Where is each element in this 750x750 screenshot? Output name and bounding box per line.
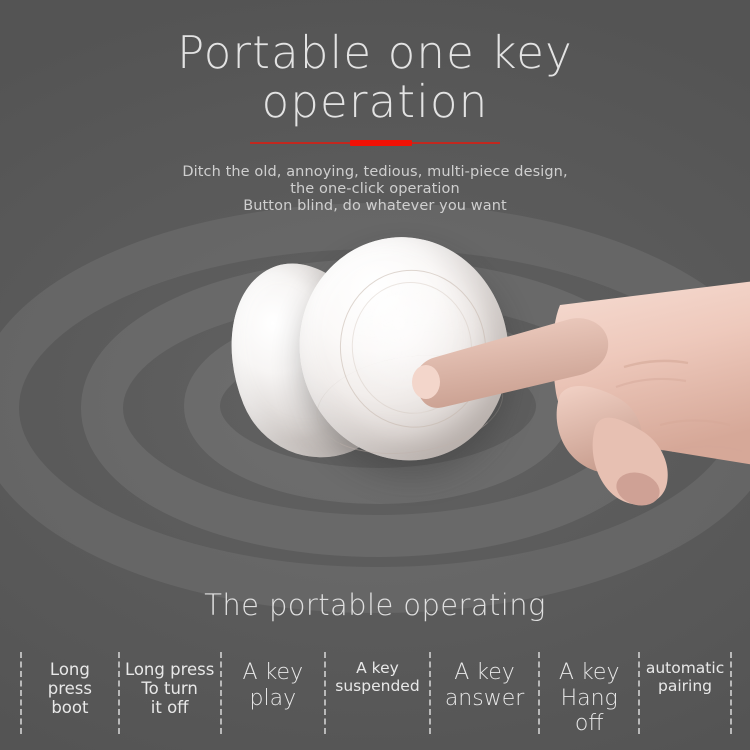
feature-cell: Long press boot	[20, 652, 118, 734]
subtitle-line-1: Ditch the old, annoying, tedious, multi-…	[0, 164, 750, 181]
feature-cell: automatic pairing	[638, 652, 732, 734]
bottom-section-heading: The portable operating	[0, 588, 750, 622]
feature-label: A key play	[238, 660, 309, 711]
feature-cell: A key Hang off	[538, 652, 638, 734]
feature-strip: Long press bootLong press To turn it off…	[20, 652, 732, 734]
subtitle-line-2: the one-click operation	[0, 181, 750, 198]
product-stage	[0, 215, 750, 545]
hand-pressing-button	[410, 275, 750, 515]
product-marketing-banner: Portable one key operation Ditch the old…	[0, 0, 750, 750]
subtitle: Ditch the old, annoying, tedious, multi-…	[0, 164, 750, 215]
feature-cell: A key play	[220, 652, 325, 734]
feature-label: A key Hang off	[540, 660, 638, 737]
feature-label: Long press To turn it off	[120, 660, 219, 717]
subtitle-line-3: Button blind, do whatever you want	[0, 198, 750, 215]
feature-label: automatic pairing	[641, 660, 729, 696]
feature-label: A key answer	[440, 660, 529, 711]
page-title: Portable one key operation	[0, 30, 750, 124]
feature-cell: A key suspended	[324, 652, 429, 734]
feature-cell: A key answer	[429, 652, 539, 734]
header: Portable one key operation Ditch the old…	[0, 0, 750, 215]
feature-label: A key suspended	[330, 660, 424, 696]
feature-label: Long press boot	[22, 660, 118, 717]
title-line-1: Portable one key	[177, 26, 573, 79]
feature-cell: Long press To turn it off	[118, 652, 220, 734]
title-accent-rule	[250, 138, 500, 148]
title-line-2: operation	[0, 79, 750, 124]
accent-rule-thick	[350, 140, 412, 146]
